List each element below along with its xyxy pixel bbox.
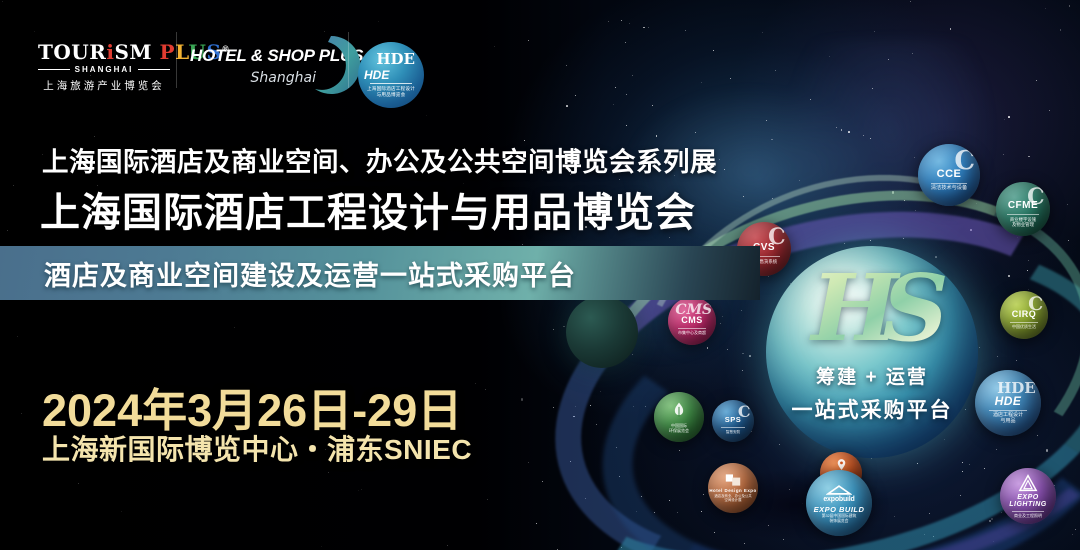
hs-monogram: HS — [766, 262, 978, 354]
cirq-mark-icon: C — [1028, 295, 1043, 314]
sphere-caption-line-1: 筹建 + 运营 — [766, 362, 978, 389]
cirq-divider — [1010, 322, 1038, 323]
central-sphere: HS 筹建 + 运营 一站式采购平台 — [766, 246, 978, 458]
hde-big-mark: HDE — [376, 52, 415, 67]
cce-mark-icon: C — [954, 148, 975, 174]
cms-mark-icon: CMS — [675, 303, 712, 317]
tourism-plus-letter: TOUR — [38, 40, 106, 64]
tourism-plus-wordmark: TOURiSM PLUS® — [38, 42, 170, 62]
expolighting-divider — [1012, 511, 1044, 512]
hde-rule — [370, 83, 412, 84]
hde-badge-sub: 酒店工程设计 与用品 — [993, 413, 1023, 425]
hde-chinese-line-2: 与用品博览会 — [377, 92, 406, 98]
crescent-arc-icon — [298, 32, 364, 98]
event-banner: HS 筹建 + 运营 一站式采购平台 C CCE 清洁技术与设备 C CFME … — [0, 0, 1080, 550]
hde-badge-mark: HDE — [997, 381, 1036, 396]
logo-hotel-shop-plus[interactable]: HOTEL & SHOP PLUS Shanghai — [190, 46, 340, 86]
expobuild-code: EXPO BUILD — [814, 506, 865, 514]
tourism-plus-rule: SHANGHAI — [38, 65, 170, 74]
page-title: 上海国际酒店工程设计与用品博览会 — [40, 180, 696, 238]
badge-hotel-design-expo[interactable]: Hotel Design Expo 酒店及商业、办公及公共 空间设计展 — [708, 463, 758, 513]
rule-right — [138, 69, 170, 70]
cfme-sub: 商业楼宇设施 及物业管理 — [1010, 217, 1036, 227]
subtitle-band: 酒店及商业空间建设及运营一站式采购平台 — [0, 246, 760, 300]
event-venue: 上海新国际博览中心・浦东SNIEC — [42, 428, 472, 468]
badge-cfme[interactable]: C CFME 商业楼宇设施 及物业管理 — [996, 182, 1050, 236]
badge-cirq[interactable]: C CIRQ 中国优质生活 — [1000, 291, 1048, 339]
logo-bar: TOURiSM PLUS® SHANGHAI 上海旅游产业博览会 — [0, 0, 1080, 120]
window-icon — [725, 473, 741, 487]
expolighting-code: EXPO LIGHTING — [1000, 494, 1056, 508]
badge-expo-lighting[interactable]: EXPO LIGHTING 商业及工程照明 — [1000, 468, 1056, 524]
headline-series-line: 上海国际酒店及商业空间、办公及公共空间博览会系列展 — [42, 140, 717, 179]
sps-divider — [721, 427, 745, 428]
tourism-plus-letter: SM — [114, 40, 159, 64]
tourism-plus-chinese: 上海旅游产业博览会 — [38, 78, 170, 93]
sps-mark-icon: C — [738, 404, 751, 420]
logo-divider-1 — [176, 32, 177, 88]
sphere-caption-line-2: 一站式采购平台 — [766, 394, 978, 424]
expolighting-sub: 商业及工程照明 — [1014, 514, 1042, 519]
cce-divider — [931, 183, 967, 184]
leaf-icon — [669, 401, 689, 421]
expobuild-sub: 第32届中国国际建筑 装饰展览会 — [822, 514, 857, 523]
badge-cce[interactable]: C CCE 清洁技术与设备 — [918, 144, 980, 206]
cvs-mark-icon: C — [768, 226, 786, 248]
badge-hde[interactable]: HDE HDE 酒店工程设计 与用品 — [975, 370, 1041, 436]
expobuild-roof-icon — [826, 483, 852, 495]
sphere-caption: 筹建 + 运营 一站式采购平台 — [766, 362, 978, 424]
tourism-plus-letter: L — [175, 40, 188, 64]
badge-green-expo[interactable]: 中国国际 环保展览会 — [654, 392, 704, 442]
badge-expo-build[interactable]: expobuild EXPO BUILD 第32届中国国际建筑 装饰展览会 — [806, 470, 872, 536]
badge-cms[interactable]: CMS CMS 市集中心及商超 — [668, 297, 716, 345]
cfme-divider — [1007, 214, 1038, 215]
logo-divider-2 — [348, 32, 349, 88]
badge-sps[interactable]: C SPS 智慧安防 — [712, 400, 754, 442]
dark-planet — [566, 296, 638, 368]
hde-small-mark: HDE — [364, 69, 389, 81]
cce-sub: 清洁技术与设备 — [931, 186, 967, 192]
subtitle-text: 酒店及商业空间建设及运营一站式采购平台 — [44, 254, 576, 293]
cirq-sub: 中国优质生活 — [1012, 325, 1036, 330]
cms-sub: 市集中心及商超 — [678, 331, 706, 336]
cfme-mark-icon: C — [1027, 186, 1045, 208]
hde-badge-code: HDE — [995, 395, 1022, 407]
tourism-plus-letter: P — [160, 40, 176, 64]
logo-hde[interactable]: HDE HDE 上海国际酒店工程设计 与用品博览会 — [358, 42, 424, 108]
logo-tourism-plus[interactable]: TOURiSM PLUS® SHANGHAI 上海旅游产业博览会 — [38, 42, 170, 93]
expobuild-wordmark: expobuild — [823, 496, 854, 503]
tourism-plus-city: SHANGHAI — [75, 65, 134, 74]
green-expo-sub: 中国国际 环保展览会 — [669, 424, 689, 433]
hotel-design-sub: 酒店及商业、办公及公共 空间设计展 — [714, 495, 751, 503]
sps-sub: 智慧安防 — [726, 430, 740, 434]
rule-left — [38, 69, 70, 70]
triangle-icon — [1018, 474, 1038, 492]
